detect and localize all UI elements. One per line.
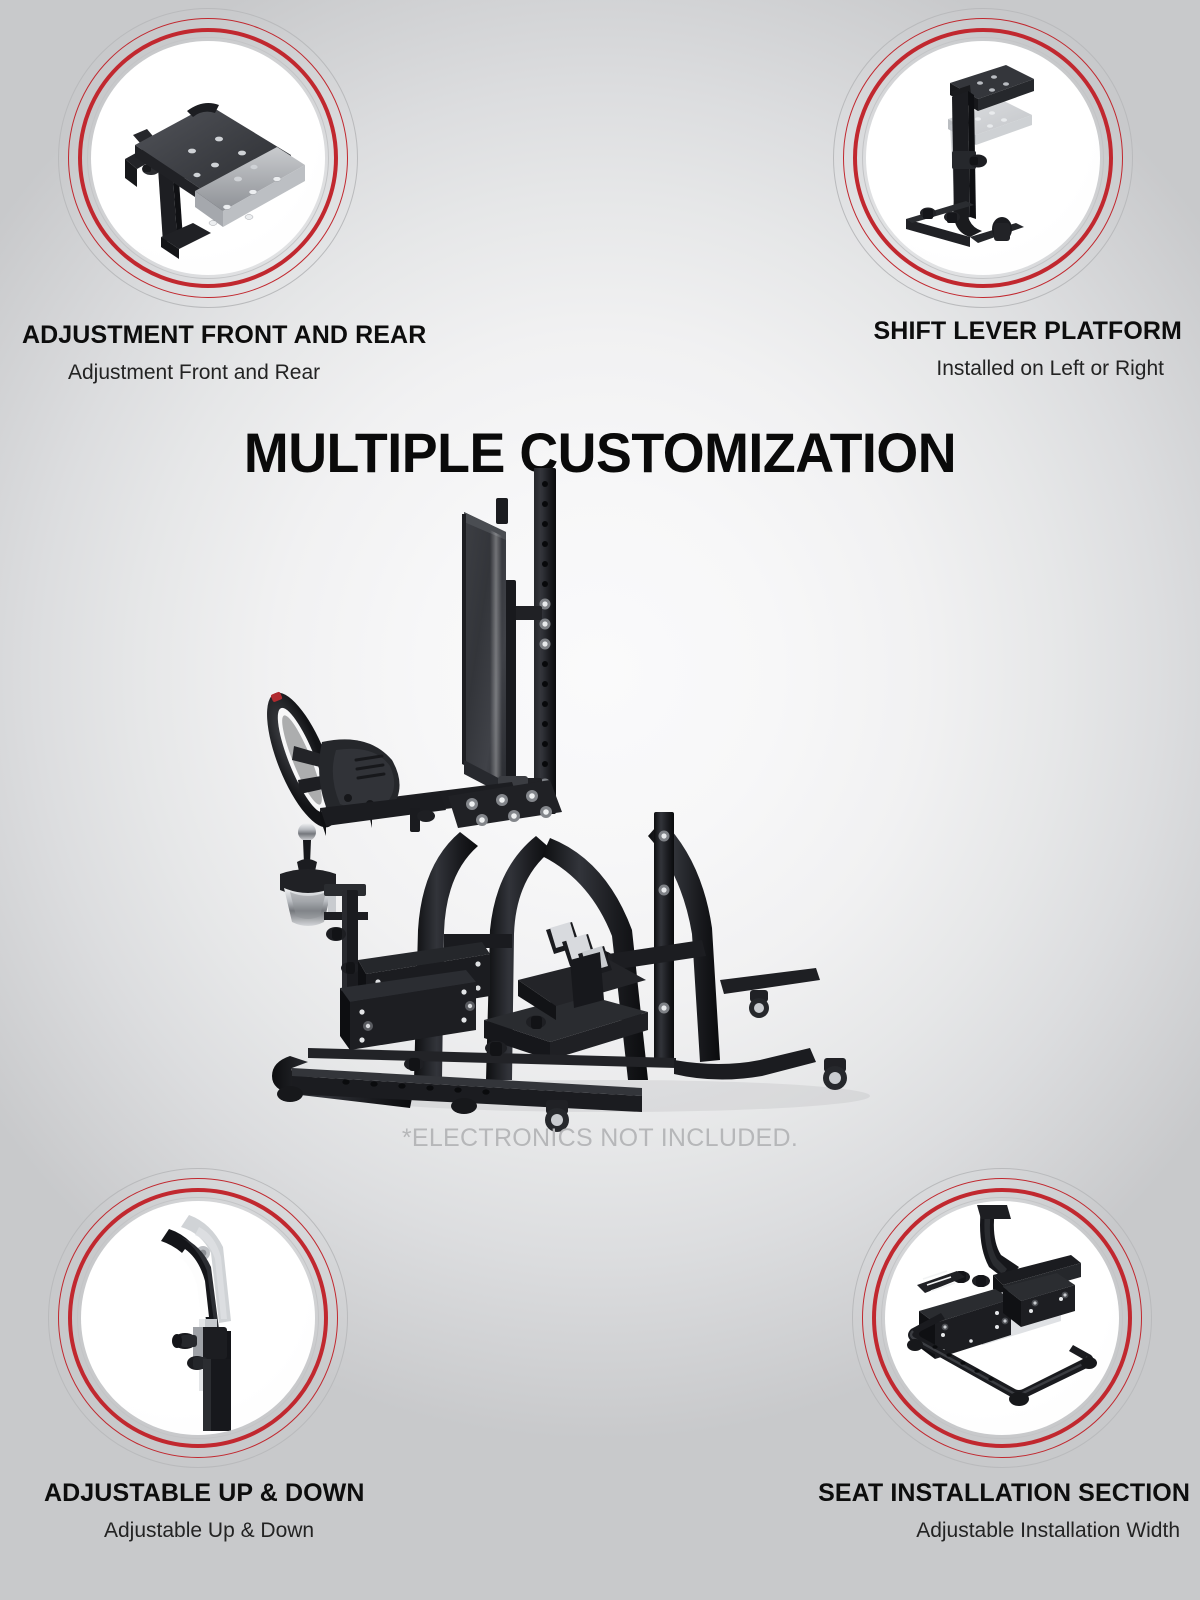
- feature-ring: [58, 8, 358, 308]
- feature-ring: [833, 8, 1133, 308]
- feature-adjustment-front-rear: [58, 8, 358, 308]
- feature-adjustable-up-down: [48, 1168, 348, 1468]
- feature-subtitle: Installed on Left or Right: [874, 356, 1182, 381]
- feature-seat-installation-section: [852, 1168, 1152, 1468]
- feature-shift-lever-platform: [833, 8, 1133, 308]
- upright-post-clamp-art: [81, 1201, 315, 1435]
- feature-subtitle: Adjustable Installation Width: [818, 1518, 1190, 1543]
- racing-simulator-rig-art: [250, 460, 950, 1140]
- feature-title: ADJUSTMENT FRONT AND REAR: [22, 322, 426, 350]
- feature-photo-adjustment-front-rear: [91, 41, 325, 275]
- feature-ring: [48, 1168, 348, 1468]
- disclaimer-text: *ELECTRONICS NOT INCLUDED.: [0, 1124, 1200, 1153]
- feature-photo-adjustable-up-down: [81, 1201, 315, 1435]
- feature-title: SEAT INSTALLATION SECTION: [818, 1480, 1190, 1508]
- hero-product-image: [250, 460, 950, 1140]
- feature-photo-seat-installation-section: [885, 1201, 1119, 1435]
- feature-title: ADJUSTABLE UP & DOWN: [44, 1480, 365, 1508]
- caption-adjustable-up-down: ADJUSTABLE UP & DOWN Adjustable Up & Dow…: [44, 1480, 365, 1543]
- shifter-mount-post-art: [866, 41, 1100, 275]
- seat-rails-top-view-art: [885, 1201, 1119, 1435]
- feature-subtitle: Adjustment Front and Rear: [22, 360, 426, 385]
- feature-photo-shift-lever-platform: [866, 41, 1100, 275]
- caption-seat-installation-section: SEAT INSTALLATION SECTION Adjustable Ins…: [818, 1480, 1190, 1543]
- wheel-deck-plate-art: [91, 41, 325, 275]
- feature-subtitle: Adjustable Up & Down: [44, 1518, 365, 1543]
- caption-adjustment-front-rear: ADJUSTMENT FRONT AND REAR Adjustment Fro…: [22, 322, 426, 385]
- feature-ring: [852, 1168, 1152, 1468]
- product-feature-poster: ADJUSTMENT FRONT AND REAR Adjustment Fro…: [0, 0, 1200, 1600]
- caption-shift-lever-platform: SHIFT LEVER PLATFORM Installed on Left o…: [874, 318, 1182, 381]
- feature-title: SHIFT LEVER PLATFORM: [874, 318, 1182, 346]
